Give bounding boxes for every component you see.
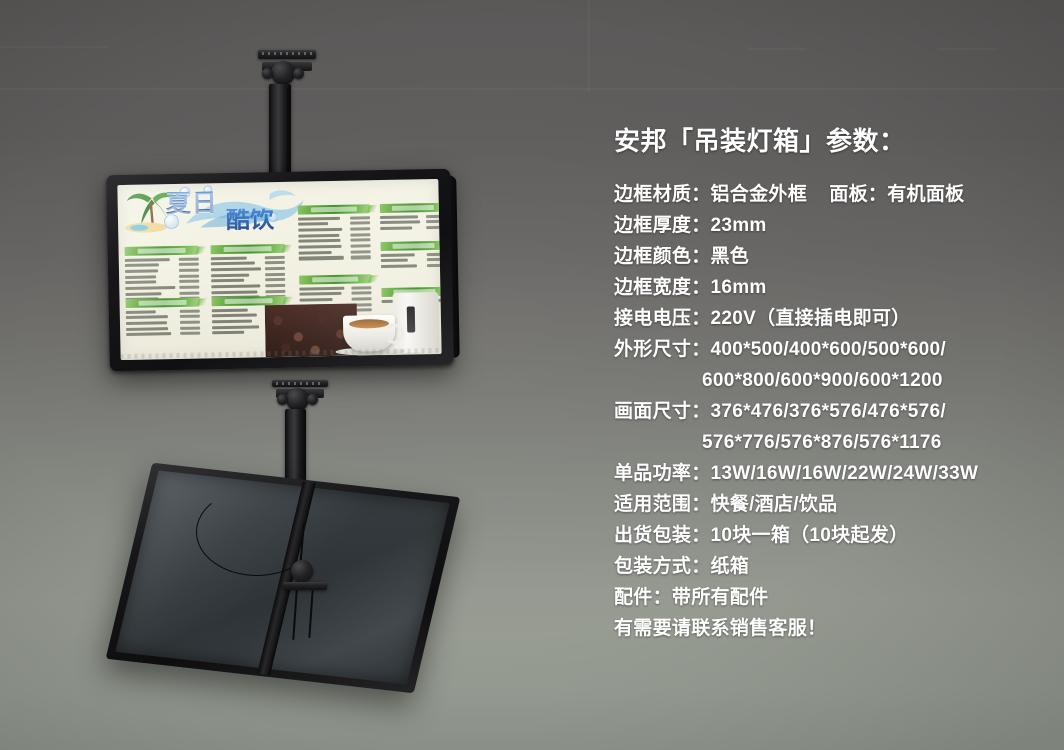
menu-item-row xyxy=(299,244,371,248)
menu-item-price xyxy=(351,250,371,253)
menu-item-row xyxy=(211,256,285,261)
menu-item-row xyxy=(211,267,285,272)
menu-section xyxy=(298,204,371,260)
menu-item-row xyxy=(299,250,371,254)
menu-item-name xyxy=(299,251,332,255)
power-cable xyxy=(287,88,289,176)
spec-line: 有需要请联系销售客服！ xyxy=(614,613,1044,644)
lower-pivot-joint xyxy=(286,388,309,411)
menu-item-row xyxy=(298,227,370,231)
menu-item-price xyxy=(427,264,442,267)
menu-item-price xyxy=(265,278,285,281)
menu-item-name xyxy=(298,228,342,232)
menu-item-row xyxy=(125,257,199,262)
menu-item-row xyxy=(125,286,199,291)
specification-block: 安邦「吊装灯箱」参数： 边框材质：铝合金外框 面板：有机面板边框厚度：23mm边… xyxy=(614,126,1044,644)
menu-item-name xyxy=(211,290,257,294)
lower-pivot-knob-right xyxy=(307,394,318,405)
menu-item-name xyxy=(298,222,328,226)
menu-item-name xyxy=(125,281,156,285)
menu-item-price xyxy=(179,274,199,277)
menu-item-price xyxy=(350,227,370,230)
menu-item-name xyxy=(212,314,257,318)
menu-item-price xyxy=(180,309,200,312)
section-rows xyxy=(381,252,442,268)
menu-item-name xyxy=(125,258,170,262)
menu-item-row xyxy=(381,252,442,256)
mount-plate-screw-holes xyxy=(276,382,324,385)
panel-mount-plate xyxy=(272,380,328,387)
menu-item-name xyxy=(298,216,340,220)
menu-item-price xyxy=(350,239,370,242)
menu-item-price xyxy=(350,222,370,225)
section-banner xyxy=(126,298,200,308)
menu-item-name xyxy=(381,259,408,263)
menu-panel: 夏日 酷饮 xyxy=(117,179,441,360)
menu-item-price xyxy=(179,286,199,289)
ceiling-mount-plate xyxy=(258,50,316,59)
menu-item-row xyxy=(298,239,370,243)
menu-section xyxy=(126,298,201,337)
menu-item-name xyxy=(211,279,244,283)
menu-item-price xyxy=(179,263,199,266)
menu-item-price xyxy=(350,233,370,236)
menu-item-name xyxy=(126,310,156,314)
menu-item-row xyxy=(211,261,285,266)
spec-line: 外形尺寸：400*500/400*600/500*600/ xyxy=(614,334,1044,365)
menu-item-price xyxy=(427,252,442,255)
menu-item-name xyxy=(212,331,244,335)
section-rows xyxy=(298,216,371,260)
menu-item-name xyxy=(381,264,417,268)
menu-item-price xyxy=(265,267,285,270)
menu-item-price xyxy=(265,273,285,276)
lower-pivot-knob-left xyxy=(277,394,288,405)
menu-item-row xyxy=(380,220,442,224)
menu-item-name xyxy=(212,308,248,312)
spec-line: 边框颜色：黑色 xyxy=(614,241,1044,272)
menu-item-row xyxy=(126,326,200,331)
menu-item-name xyxy=(381,253,415,257)
menu-item-name xyxy=(125,264,159,268)
menu-item-price xyxy=(179,291,199,294)
spec-line: 边框材质：铝合金外框 面板：有机面板 xyxy=(614,179,1044,210)
menu-item-row xyxy=(125,274,199,279)
menu-item-row xyxy=(126,332,200,337)
menu-item-row xyxy=(126,309,200,314)
menu-section xyxy=(380,241,441,268)
menu-item-price xyxy=(179,280,199,283)
menu-item-row xyxy=(211,278,285,283)
menu-item-row xyxy=(126,315,200,320)
panel-clamp xyxy=(283,582,327,590)
menu-item-price xyxy=(265,261,285,264)
section-rows xyxy=(126,309,200,336)
menu-item-row xyxy=(125,280,199,285)
menu-item-row xyxy=(380,214,442,218)
spec-line: 576*776/576*876/576*1176 xyxy=(614,427,1044,458)
spec-heading: 安邦「吊装灯箱」参数： xyxy=(614,126,1044,157)
menu-item-name xyxy=(125,269,158,273)
menu-item-name xyxy=(211,262,255,266)
menu-item-name xyxy=(299,256,344,260)
menu-item-name xyxy=(299,245,342,249)
spec-line-list: 边框材质：铝合金外框 面板：有机面板边框厚度：23mm边框颜色：黑色边框宽度：1… xyxy=(614,179,1044,644)
section-banner xyxy=(380,241,441,251)
menu-item-name xyxy=(126,327,168,331)
upper-pivot-joint xyxy=(271,61,295,85)
menu-item-name xyxy=(380,215,418,219)
menu-item-row xyxy=(125,269,199,274)
section-rows xyxy=(380,214,442,230)
menu-item-price xyxy=(351,256,371,259)
section-banner xyxy=(211,244,285,254)
menu-item-name xyxy=(298,234,339,238)
menu-item-price xyxy=(180,332,200,335)
menu-item-name xyxy=(125,292,161,296)
section-banner xyxy=(298,204,370,214)
menu-item-name xyxy=(212,325,259,329)
menu-item-name xyxy=(380,226,412,230)
menu-item-price xyxy=(427,258,442,261)
menu-item-name xyxy=(126,321,167,325)
spec-line: 包装方式：纸箱 xyxy=(614,551,1044,582)
menu-section xyxy=(380,203,442,230)
menu-item-price xyxy=(180,326,200,329)
menu-item-row xyxy=(381,264,442,268)
spec-line: 适用范围：快餐/酒店/饮品 xyxy=(614,489,1044,520)
menu-title-line-2: 酷饮 xyxy=(226,208,274,233)
menu-item-price xyxy=(179,257,199,260)
menu-section xyxy=(125,246,200,302)
spec-line: 配件：带所有配件 xyxy=(614,582,1044,613)
menu-item-row xyxy=(125,291,199,296)
menu-item-row xyxy=(126,321,200,326)
coffee-photo xyxy=(264,282,441,357)
menu-item-row xyxy=(211,273,285,278)
upper-pivot-knob-right xyxy=(293,68,304,79)
coffee-cup xyxy=(343,315,396,352)
menu-item-name xyxy=(298,239,340,243)
menu-item-name xyxy=(126,332,171,336)
spec-line: 边框厚度：23mm xyxy=(614,210,1044,241)
spec-line: 单品功率：13W/16W/16W/22W/24W/33W xyxy=(614,458,1044,489)
menu-item-name xyxy=(125,275,156,279)
spec-line: 接电电压：220V（直接插电即可） xyxy=(614,303,1044,334)
menu-item-row xyxy=(125,263,199,268)
coffee-machine xyxy=(392,292,439,353)
menu-item-row xyxy=(298,216,370,220)
spec-line: 边框宽度：16mm xyxy=(614,272,1044,303)
panel-pivot-joint xyxy=(291,560,313,582)
section-banner xyxy=(380,203,442,213)
menu-item-price xyxy=(350,216,370,219)
menu-item-price xyxy=(180,321,200,324)
spec-line: 出货包装：10块一箱（10块起发） xyxy=(614,520,1044,551)
menu-item-price xyxy=(265,256,285,259)
menu-item-price xyxy=(179,269,199,272)
menu-item-price xyxy=(180,315,200,318)
spec-line: 600*800/600*900/600*1200 xyxy=(614,365,1044,396)
section-rows xyxy=(125,257,200,301)
menu-item-row xyxy=(381,258,442,262)
menu-item-name xyxy=(211,256,247,260)
menu-item-row xyxy=(299,256,371,260)
menu-item-name xyxy=(211,267,261,271)
menu-item-name xyxy=(211,273,249,277)
menu-item-name xyxy=(211,284,260,288)
product-photo-scene: 夏日 酷饮 xyxy=(0,0,1064,750)
menu-item-name xyxy=(126,315,168,319)
menu-item-name xyxy=(125,286,175,290)
menu-light-box: 夏日 酷饮 xyxy=(106,169,454,372)
menu-item-row xyxy=(298,222,370,226)
spec-line: 画面尺寸：376*476/376*576/476*576/ xyxy=(614,396,1044,427)
menu-item-name xyxy=(380,221,420,225)
section-banner xyxy=(125,246,199,256)
menu-item-name xyxy=(212,320,252,324)
menu-item-price xyxy=(351,244,371,247)
menu-item-row xyxy=(298,233,370,237)
menu-title-line-1: 夏日 xyxy=(165,191,217,217)
mount-plate-screw-holes xyxy=(262,52,312,55)
upper-pivot-knob-left xyxy=(262,68,273,79)
